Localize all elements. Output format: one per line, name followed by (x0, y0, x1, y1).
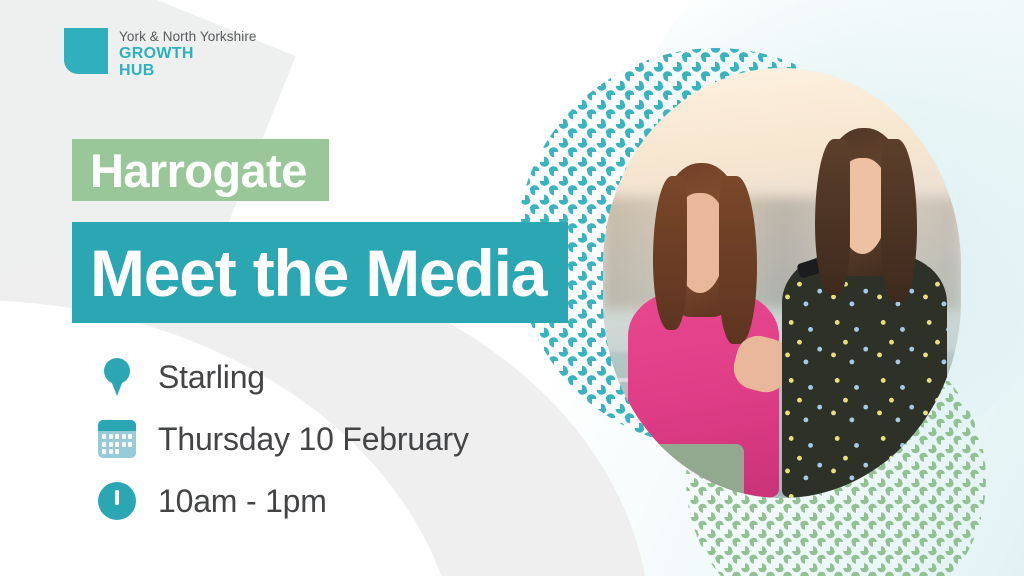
city-banner: Harrogate (72, 139, 329, 201)
logo-wordmark: York & North Yorkshire GROWTH HUB (119, 28, 257, 80)
city-label: Harrogate (90, 147, 307, 194)
photo-person-left-hair-strand-right (719, 176, 757, 344)
clock-icon (96, 480, 138, 522)
logo-line-hub: HUB (119, 63, 257, 80)
calendar-shape (98, 420, 136, 458)
clock-shape (98, 482, 136, 520)
event-photo (603, 68, 961, 498)
photo-person-right (782, 128, 947, 498)
date-label: Thursday 10 February (158, 423, 469, 455)
detail-row-date: Thursday 10 February (96, 418, 469, 460)
location-label: Starling (158, 361, 265, 393)
event-title-banner: Meet the Media (72, 222, 568, 323)
time-label: 10am - 1pm (158, 485, 327, 517)
photo-person-left-trousers (650, 444, 745, 498)
logo-line-growth: GROWTH (119, 46, 257, 63)
calendar-icon (96, 418, 138, 460)
logo-line-region: York & North Yorkshire (119, 29, 257, 46)
detail-row-time: 10am - 1pm (96, 480, 469, 522)
detail-row-location: Starling (96, 356, 469, 398)
photo-person-right-dress (782, 254, 947, 498)
growth-hub-square-icon (64, 28, 108, 74)
map-pin-shape (104, 358, 130, 396)
map-pin-icon (96, 356, 138, 398)
event-title: Meet the Media (90, 240, 546, 306)
calendar-day-grid (102, 434, 132, 454)
event-promo-poster: York & North Yorkshire GROWTH HUB Harrog… (0, 0, 1024, 576)
photo-person-right-hair-strand-right (881, 139, 917, 302)
calendar-header-bar (98, 420, 136, 431)
photo-person-left (624, 163, 782, 498)
photo-person-left-hair-strand-left (653, 176, 688, 330)
event-details-list: Starling Thursday 10 February (96, 356, 469, 522)
photo-person-right-hair-strand-left (815, 139, 850, 294)
clock-hand (115, 490, 119, 505)
growth-hub-logo: York & North Yorkshire GROWTH HUB (64, 28, 257, 80)
map-pin-head (104, 358, 130, 384)
